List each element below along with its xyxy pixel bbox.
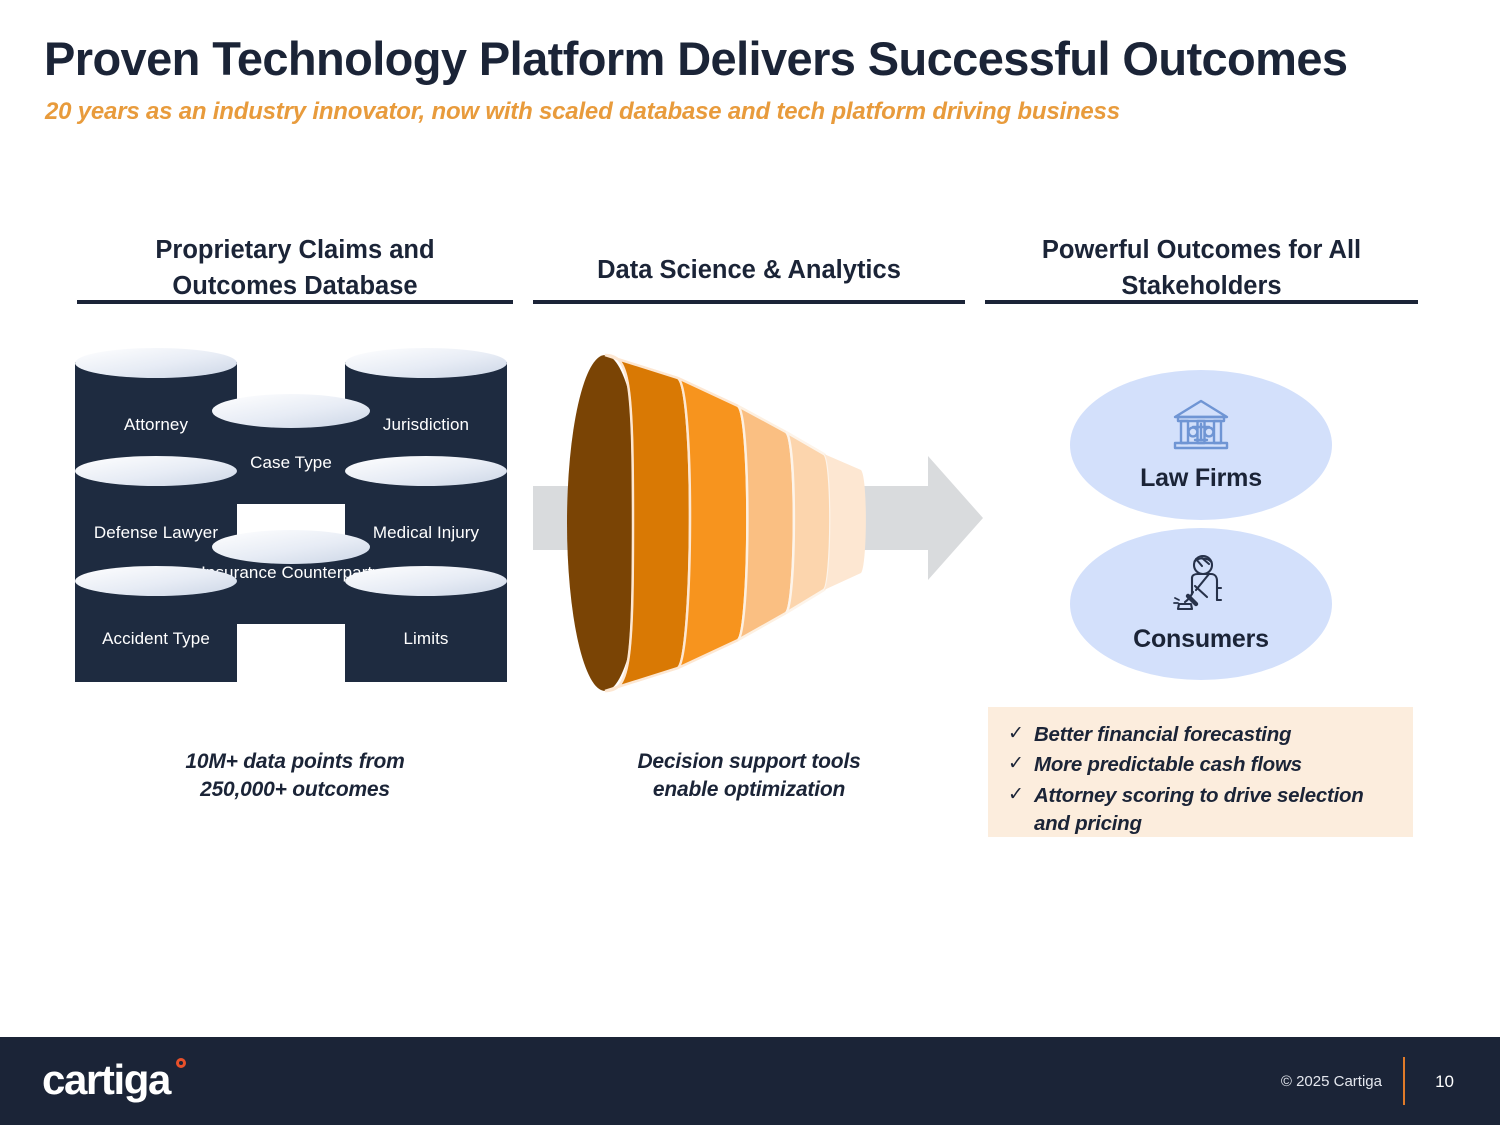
db-label-accident-type: Accident Type: [75, 628, 237, 650]
benefit-item: ✓ Better financial forecasting: [988, 721, 1413, 749]
benefit-item: ✓ Attorney scoring to drive selection an…: [988, 782, 1413, 839]
slide-canvas: Proven Technology Platform Delivers Succ…: [0, 0, 1500, 1125]
db-label-defense-lawyer: Defense Lawyer: [75, 522, 237, 544]
db-cylinder-accident-type: Accident Type: [75, 580, 237, 682]
slide-footer: cartiga © 2025 Cartiga 10: [0, 1037, 1500, 1125]
column-heading-right-line1: Powerful Outcomes for All: [985, 232, 1418, 268]
benefit-text: Attorney scoring to drive selection and …: [1034, 782, 1395, 839]
db-cylinder-top-defense-lawyer: [75, 456, 237, 486]
check-icon: ✓: [1008, 782, 1034, 809]
courthouse-scales-icon: [1170, 397, 1232, 460]
db-label-case-type: Case Type: [216, 452, 366, 474]
caption-middle: Decision support tools enable optimizati…: [533, 748, 965, 803]
db-label-jurisdiction: Jurisdiction: [345, 414, 507, 436]
db-label-medical-injury: Medical Injury: [345, 522, 507, 544]
injured-person-icon: [1171, 554, 1231, 621]
check-icon: ✓: [1008, 751, 1034, 778]
funnel-svg: [533, 338, 993, 708]
column-rule-right: [985, 300, 1418, 304]
column-heading-right: Powerful Outcomes for All Stakeholders: [985, 232, 1418, 304]
db-cylinder-top-insurance-counterparty: [212, 530, 370, 564]
center-notch-top: [236, 352, 346, 400]
db-cylinder-top-attorney: [75, 348, 237, 378]
column-heading-middle-line1: Data Science & Analytics: [533, 252, 965, 288]
caption-left: 10M+ data points from 250,000+ outcomes: [77, 748, 513, 803]
column-heading-left: Proprietary Claims and Outcomes Database: [77, 232, 513, 304]
db-label-limits: Limits: [345, 628, 507, 650]
db-cylinder-top-accident-type: [75, 566, 237, 596]
caption-left-line2: 250,000+ outcomes: [77, 776, 513, 804]
caption-left-line1: 10M+ data points from: [77, 748, 513, 776]
outcome-label-consumers: Consumers: [1133, 625, 1269, 654]
db-label-attorney: Attorney: [75, 414, 237, 436]
page-subtitle: 20 years as an industry innovator, now w…: [45, 98, 1445, 126]
claims-database-diagram: Attorney Jurisdiction Case Type Defense …: [75, 352, 507, 682]
db-cylinder-top-medical-injury: [345, 456, 507, 486]
outcome-oval-law-firms[interactable]: Law Firms: [1070, 370, 1332, 520]
benefit-text: More predictable cash flows: [1034, 751, 1302, 779]
column-heading-middle: Data Science & Analytics: [533, 252, 965, 288]
logo-degree-icon: [176, 1058, 186, 1068]
outcome-label-law-firms: Law Firms: [1140, 464, 1262, 493]
page-number: 10: [1435, 1072, 1454, 1092]
copyright-text: © 2025 Cartiga: [1281, 1073, 1382, 1090]
benefit-text: Better financial forecasting: [1034, 721, 1291, 749]
column-rule-left: [77, 300, 513, 304]
outcome-oval-consumers[interactable]: Consumers: [1070, 528, 1332, 680]
db-cylinder-limits: Limits: [345, 580, 507, 682]
caption-middle-line1: Decision support tools: [533, 748, 965, 776]
footer-divider: [1403, 1057, 1405, 1105]
column-heading-right-line2: Stakeholders: [985, 268, 1418, 304]
column-heading-left-line2: Outcomes Database: [77, 268, 513, 304]
db-cylinder-top-limits: [345, 566, 507, 596]
db-cylinder-top-case-type: [212, 394, 370, 428]
column-rule-middle: [533, 300, 965, 304]
caption-middle-line2: enable optimization: [533, 776, 965, 804]
data-science-funnel-graphic: [533, 338, 993, 708]
column-heading-left-line1: Proprietary Claims and: [77, 232, 513, 268]
benefit-item: ✓ More predictable cash flows: [988, 751, 1413, 779]
check-icon: ✓: [1008, 721, 1034, 748]
db-cylinder-top-jurisdiction: [345, 348, 507, 378]
cartiga-logo: cartiga: [42, 1059, 170, 1101]
center-notch-bottom: [236, 624, 346, 682]
benefits-callout-box: ✓ Better financial forecasting ✓ More pr…: [988, 707, 1413, 837]
page-title: Proven Technology Platform Delivers Succ…: [44, 34, 1444, 85]
